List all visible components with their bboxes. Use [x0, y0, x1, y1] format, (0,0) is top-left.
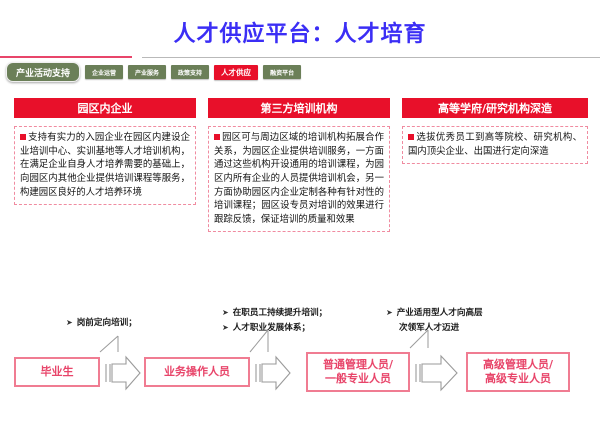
tab-enterprise-operation[interactable]: 企业运营 — [85, 65, 123, 79]
flow-stage-operator[interactable]: 业务操作人员 — [144, 357, 250, 387]
arrow-bullet-icon: ➤ — [66, 318, 73, 327]
note-line: 产业适用型人才向高层 — [397, 308, 483, 318]
flow-arrow-2 — [254, 355, 292, 391]
column-body-higher-education: 选拔优秀员工到高等院校、研究机构、国内顶尖企业、出国进行定向深造 — [402, 126, 588, 164]
page-title: 人才供应平台：人才培育 — [0, 16, 600, 48]
square-bullet-icon — [214, 134, 220, 140]
tab-policy-support[interactable]: 政策支持 — [171, 65, 209, 79]
square-bullet-icon — [20, 134, 26, 140]
column-body-park-enterprises: 支持有实力的入园企业在园区内建设企业培训中心、实训基地等人才培训机构，在满足企业… — [14, 126, 196, 205]
column-header-park-enterprises: 园区内企业 — [14, 98, 196, 118]
slide-canvas: 人才供应平台：人才培育 产业活动支持 企业运营 产业服务 政策支持 人才供应 融… — [0, 0, 600, 427]
note-line: 人才职业发展体系； — [233, 323, 310, 333]
flow-stage-senior-manager[interactable]: 高级管理人员/ 高级专业人员 — [466, 352, 570, 392]
note-line: 在职员工持续提升培训； — [233, 308, 328, 318]
flow-arrow-3 — [414, 353, 460, 393]
column-header-third-party-training: 第三方培训机构 — [208, 98, 390, 118]
tab-financing-platform[interactable]: 融资平台 — [263, 65, 301, 79]
note-pre-job-training: ➤岗前定向培训； — [66, 316, 137, 331]
column-body-third-party-training: 园区可与周边区域的培训机构拓展合作关系，为园区企业提供培训服务，一方面通过这些机… — [208, 126, 390, 232]
square-bullet-icon — [408, 134, 414, 140]
flow-arrow-1 — [104, 355, 142, 391]
note-line: 次领军人才迈进 — [386, 321, 483, 336]
title-rule-accent — [0, 56, 132, 58]
flow-stage-general-manager[interactable]: 普通管理人员/ 一般专业人员 — [306, 352, 410, 392]
tab-industry-activity-support[interactable]: 产业活动支持 — [6, 62, 80, 82]
flow-stage-graduate[interactable]: 毕业生 — [14, 357, 100, 387]
tab-industry-service[interactable]: 产业服务 — [128, 65, 166, 79]
tab-talent-supply[interactable]: 人才供应 — [214, 65, 258, 80]
note-line: 岗前定向培训； — [77, 318, 137, 328]
note-leading-talent: ➤产业适用型人才向高层 次领军人才迈进 — [386, 306, 483, 336]
column-body-text: 选拔优秀员工到高等院校、研究机构、国内顶尖企业、出国进行定向深造 — [408, 132, 582, 157]
arrow-bullet-icon: ➤ — [386, 308, 393, 317]
note-ongoing-training: ➤在职员工持续提升培训； ➤人才职业发展体系； — [222, 306, 327, 336]
nav-tabs: 产业活动支持 企业运营 产业服务 政策支持 人才供应 融资平台 — [6, 62, 301, 82]
column-header-higher-education: 高等学府/研究机构深造 — [402, 98, 588, 118]
arrow-bullet-icon: ➤ — [222, 323, 229, 332]
title-rule — [142, 57, 600, 58]
column-body-text: 园区可与周边区域的培训机构拓展合作关系，为园区企业提供培训服务，一方面通过这些机… — [214, 132, 384, 225]
column-body-text: 支持有实力的入园企业在园区内建设企业培训中心、实训基地等人才培训机构，在满足企业… — [20, 132, 190, 198]
arrow-bullet-icon: ➤ — [222, 308, 229, 317]
